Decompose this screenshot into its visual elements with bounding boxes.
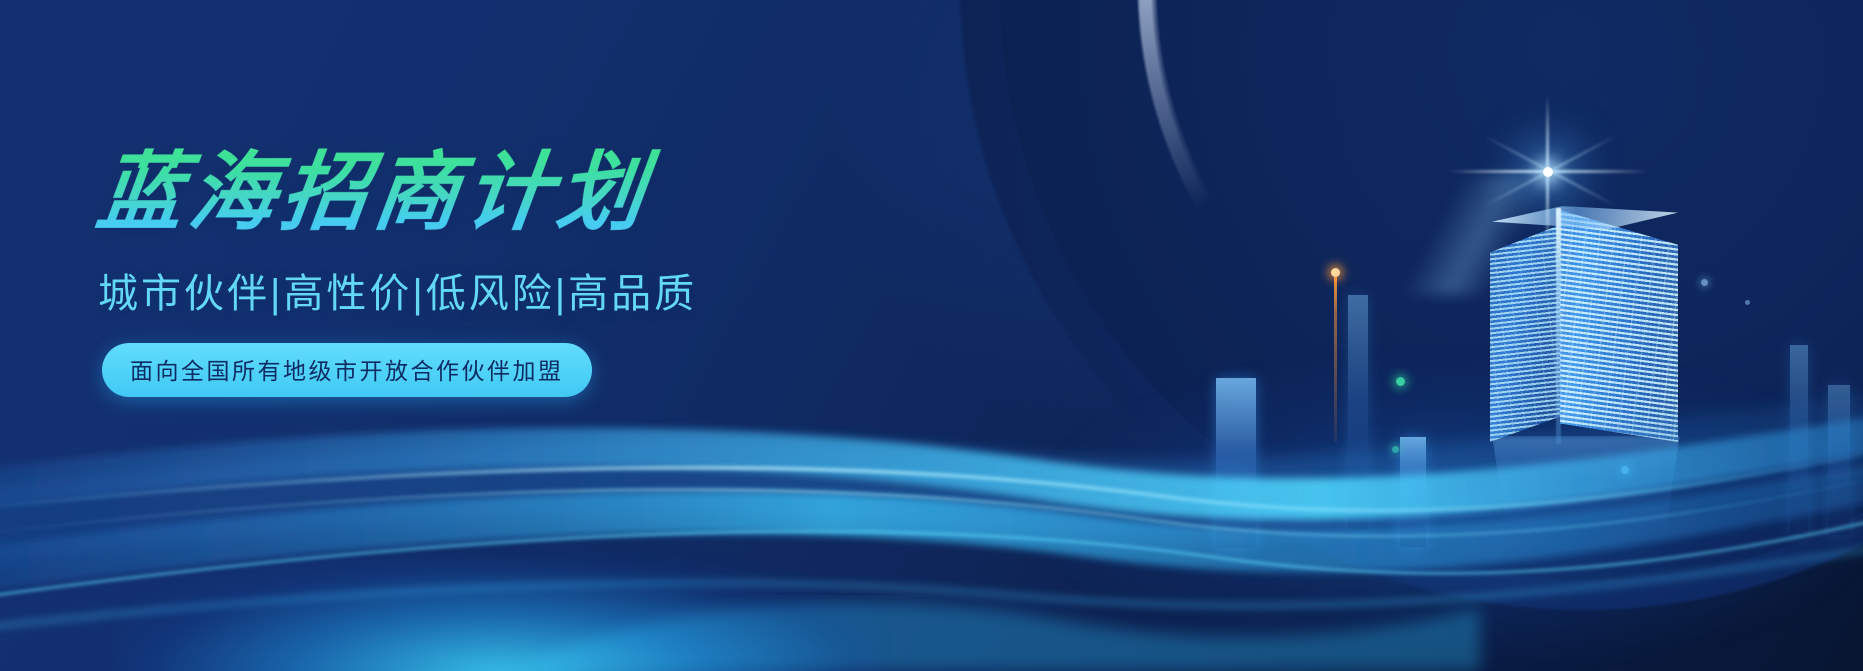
banner-copy: 蓝海招商计划 城市伙伴|高性价|低风险|高品质 面向全国所有地级市开放合作伙伴加… xyxy=(92,148,852,397)
banner-subtitle: 城市伙伴|高性价|低风险|高品质 xyxy=(98,261,852,319)
promotional-banner: 蓝海招商计划 城市伙伴|高性价|低风险|高品质 面向全国所有地级市开放合作伙伴加… xyxy=(0,0,1863,671)
particle-dot xyxy=(1701,279,1708,286)
antenna-beacon-icon xyxy=(1331,268,1340,277)
star-glint-icon xyxy=(1543,167,1553,177)
status-badge: 面向全国所有地级市开放合作伙伴加盟 xyxy=(102,343,592,397)
page-title: 蓝海招商计划 xyxy=(92,148,863,239)
